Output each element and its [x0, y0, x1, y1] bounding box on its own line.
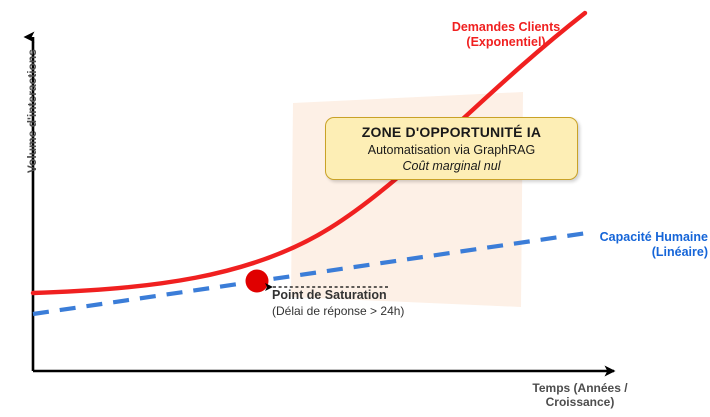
- x-axis-label: Temps (Années / Croissance): [500, 381, 660, 409]
- chart-graphics: [0, 0, 710, 417]
- chart-canvas: Volume d'interactions Temps (Années / Cr…: [0, 0, 710, 417]
- series-label-demandes-clients: Demandes Clients (Exponentiel): [430, 20, 582, 50]
- series-label-capacite-humaine: Capacité Humaine (Linéaire): [592, 230, 708, 260]
- callout-subtitle-1: Automatisation via GraphRAG: [326, 143, 577, 157]
- callout-subtitle-2: Coût marginal nul: [326, 159, 577, 173]
- zone-opportunite-callout: ZONE D'OPPORTUNITÉ IA Automatisation via…: [325, 117, 578, 180]
- saturation-annotation-subtitle: (Délai de réponse > 24h): [272, 304, 404, 318]
- y-axis-label: Volume d'interactions: [25, 31, 39, 191]
- callout-title: ZONE D'OPPORTUNITÉ IA: [326, 124, 577, 140]
- saturation-point-marker: [246, 270, 269, 293]
- saturation-annotation-title: Point de Saturation: [272, 288, 387, 303]
